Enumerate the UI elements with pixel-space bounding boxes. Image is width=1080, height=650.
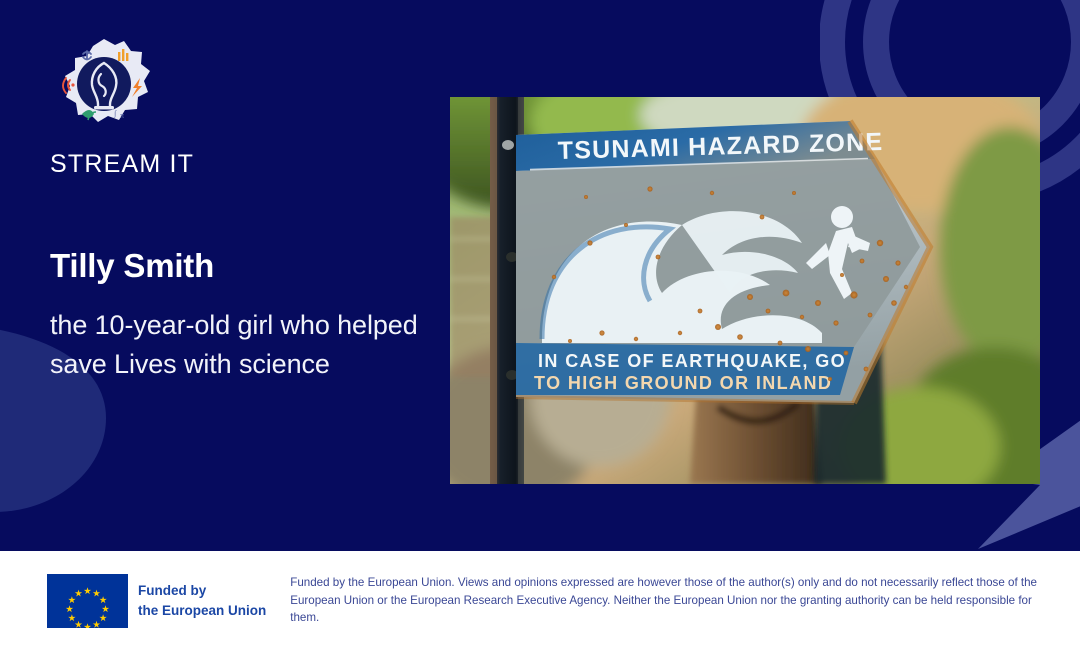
tsunami-sign-photo: TSUNAMI HAZARD ZONE xyxy=(450,97,1040,484)
eu-funding-logo: Funded by the European Union xyxy=(47,574,266,628)
presentation-slide: ∫ π STREAM IT Tilly Smith the 10-year-ol… xyxy=(0,0,1080,650)
svg-text:π: π xyxy=(120,111,124,120)
eu-caption-line-1: Funded by xyxy=(138,581,266,601)
gear-with-person-icon: ∫ π xyxy=(52,36,156,140)
eu-funding-caption: Funded by the European Union xyxy=(138,581,266,620)
eu-caption-line-2: the European Union xyxy=(138,601,266,621)
slide-body: ∫ π STREAM IT Tilly Smith the 10-year-ol… xyxy=(0,0,1080,551)
funding-footer: Funded by the European Union Funded by t… xyxy=(0,551,1080,650)
brand-wordmark: STREAM IT xyxy=(50,150,258,179)
page-title: Tilly Smith xyxy=(50,248,420,284)
funding-disclaimer: Funded by the European Union. Views and … xyxy=(290,574,1054,628)
brand-logo: ∫ π STREAM IT xyxy=(48,36,258,179)
eu-flag-icon xyxy=(47,574,128,628)
page-subtitle: the 10-year-old girl who helped save Liv… xyxy=(50,306,420,383)
svg-text:TO HIGH GROUND OR INLAND: TO HIGH GROUND OR INLAND xyxy=(534,373,832,393)
headline-block: Tilly Smith the 10-year-old girl who hel… xyxy=(50,248,420,383)
svg-text:IN CASE OF EARTHQUAKE, GO: IN CASE OF EARTHQUAKE, GO xyxy=(538,351,846,371)
photo-illustration: TSUNAMI HAZARD ZONE xyxy=(450,97,1040,484)
